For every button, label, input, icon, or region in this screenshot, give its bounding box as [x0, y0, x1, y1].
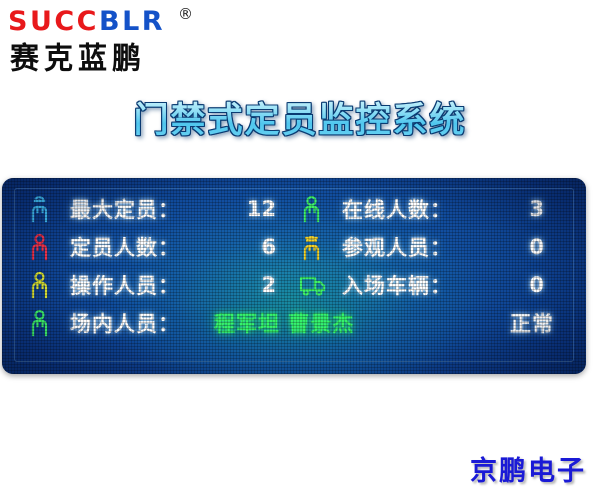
led-label-visitors: 参观人员： — [342, 232, 452, 262]
status-badge: 正常 — [510, 308, 554, 338]
company-logo: SUCCBLR ® 赛克蓝鹏 — [8, 4, 218, 70]
logo-chinese-text: 赛克蓝鹏 — [10, 34, 146, 78]
page-title: 门禁式定员监控系统 — [0, 92, 600, 143]
led-row-online-count: 在线人数： 3 — [298, 192, 544, 226]
person-visitor-icon — [298, 232, 328, 262]
led-row-operators: 操作人员： 2 — [26, 268, 276, 302]
led-row-registered-count: 定员人数： 6 — [26, 230, 276, 264]
person-icon — [26, 308, 56, 338]
truck-icon — [298, 270, 328, 300]
led-value-onsite-names: 程军坦 曹景杰 — [214, 308, 354, 338]
logo-blr-text: BLR — [99, 6, 165, 37]
registered-trademark-icon: ® — [178, 5, 193, 23]
footer-company-logo: 京鹏电子 — [470, 449, 586, 488]
led-label-vehicles: 入场车辆： — [342, 270, 452, 300]
led-label-online-count: 在线人数： — [342, 194, 452, 224]
led-value-online-count: 3 — [492, 197, 544, 221]
person-icon — [298, 194, 328, 224]
led-value-max-capacity: 12 — [220, 197, 276, 221]
logo-latin-text: SUCCBLR — [8, 7, 165, 37]
led-row-visitors: 参观人员： 0 — [298, 230, 544, 264]
led-value-registered-count: 6 — [220, 235, 276, 259]
led-label-registered-count: 定员人数： — [70, 232, 180, 262]
led-row-vehicles: 入场车辆： 0 — [298, 268, 544, 302]
led-display-panel: 最大定员： 12 定员人数： 6 — [2, 178, 586, 374]
led-value-visitors: 0 — [492, 235, 544, 259]
person-icon — [26, 270, 56, 300]
led-value-operators: 2 — [220, 273, 276, 297]
led-label-operators: 操作人员： — [70, 270, 180, 300]
person-hardhat-icon — [26, 194, 56, 224]
led-label-max-capacity: 最大定员： — [70, 194, 180, 224]
led-label-onsite-personnel: 场内人员： — [70, 308, 180, 338]
led-value-vehicles: 0 — [492, 273, 544, 297]
logo-succ-text: SUCC — [8, 6, 99, 37]
led-row-onsite-personnel: 场内人员： 程军坦 曹景杰 正常 — [26, 306, 566, 340]
led-row-max-capacity: 最大定员： 12 — [26, 192, 276, 226]
person-icon — [26, 232, 56, 262]
